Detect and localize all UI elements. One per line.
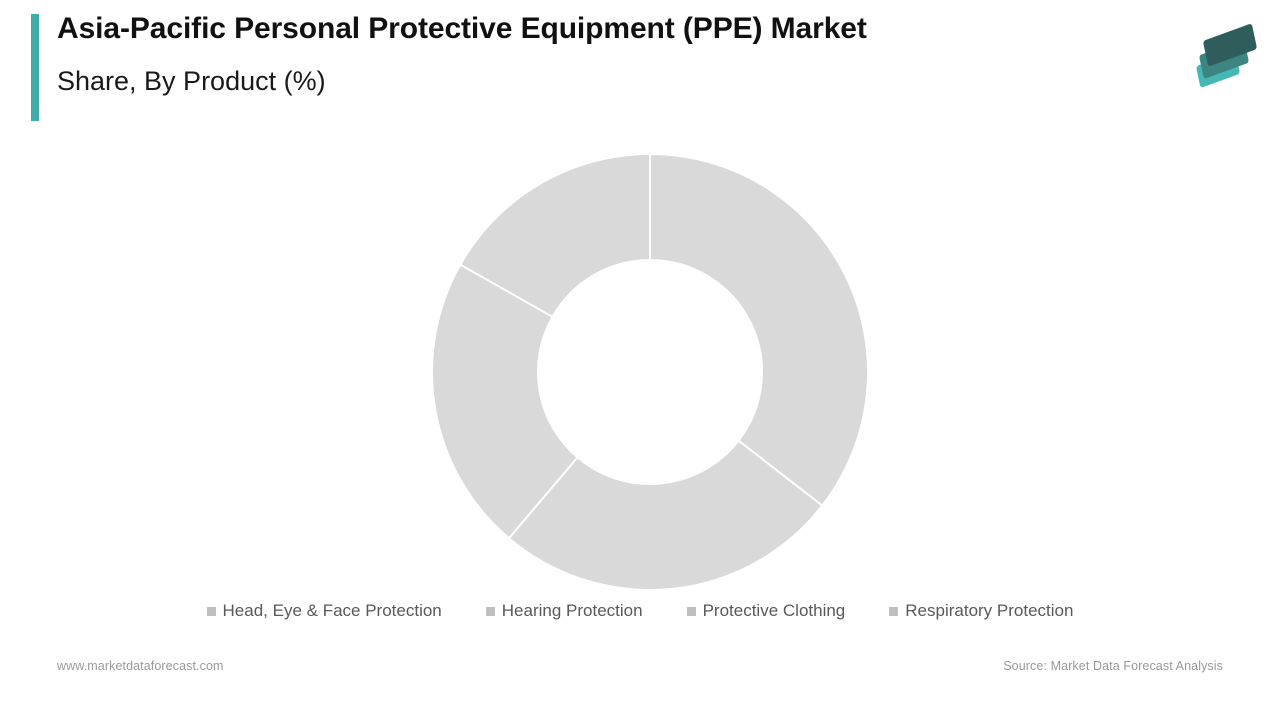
legend-swatch-icon [207,607,216,616]
page-title: Asia-Pacific Personal Protective Equipme… [57,14,1157,44]
footer-website-url[interactable]: www.marketdataforecast.com [57,659,224,673]
donut-chart [410,130,890,600]
legend-label: Protective Clothing [703,602,846,619]
legend-item-protective-clothing[interactable]: Protective Clothing [687,602,846,619]
legend-label: Hearing Protection [502,602,643,619]
legend-swatch-icon [687,607,696,616]
legend-label: Respiratory Protection [905,602,1073,619]
chart-area [0,130,1280,600]
legend-item-respiratory-protection[interactable]: Respiratory Protection [889,602,1073,619]
footer-source-text: Source: Market Data Forecast Analysis [1003,659,1223,673]
stacked-layers-logo-icon [1188,18,1260,90]
legend-item-head-eye-face-protection[interactable]: Head, Eye & Face Protection [207,602,442,619]
page-subtitle: Share, By Product (%) [57,68,1157,95]
chart-legend: Head, Eye & Face Protection Hearing Prot… [0,595,1280,625]
legend-swatch-icon [486,607,495,616]
footer: www.marketdataforecast.com Source: Marke… [0,655,1280,685]
title-accent-bar [31,14,39,121]
legend-item-hearing-protection[interactable]: Hearing Protection [486,602,643,619]
legend-label: Head, Eye & Face Protection [223,602,442,619]
donut-slice-group [432,154,868,590]
header: Asia-Pacific Personal Protective Equipme… [0,0,1280,130]
donut-slice[interactable] [650,154,868,506]
logo-svg [1188,18,1260,90]
title-block: Asia-Pacific Personal Protective Equipme… [57,14,1157,95]
legend-swatch-icon [889,607,898,616]
